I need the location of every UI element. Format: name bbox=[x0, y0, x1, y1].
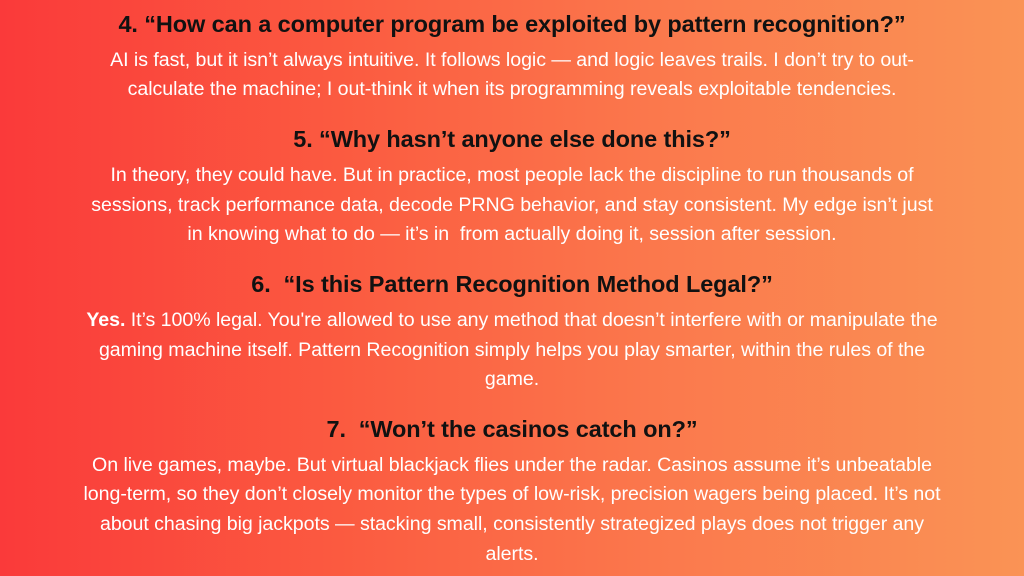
faq-answer-5: In theory, they could have. But in pract… bbox=[86, 161, 938, 250]
faq-answer-7: On live games, maybe. But virtual blackj… bbox=[72, 451, 952, 570]
faq-question-6: 6. “Is this Pattern Recognition Method L… bbox=[251, 270, 772, 300]
faq-item-4: 4. “How can a computer program be exploi… bbox=[72, 10, 952, 105]
faq-answer-6-text: It’s 100% legal. You're allowed to use a… bbox=[99, 309, 943, 391]
faq-item-7: 7. “Won’t the casinos catch on?” On live… bbox=[72, 415, 952, 570]
faq-answer-4: AI is fast, but it isn’t always intuitiv… bbox=[79, 46, 945, 106]
faq-item-6: 6. “Is this Pattern Recognition Method L… bbox=[72, 270, 952, 395]
faq-item-5: 5. “Why hasn’t anyone else done this?” I… bbox=[72, 125, 952, 250]
faq-answer-6-lead: Yes. bbox=[86, 309, 125, 331]
faq-answer-6: Yes. It’s 100% legal. You're allowed to … bbox=[76, 306, 948, 395]
faq-slide: 4. “How can a computer program be exploi… bbox=[0, 0, 1024, 576]
faq-question-4: 4. “How can a computer program be exploi… bbox=[118, 10, 905, 40]
faq-question-7: 7. “Won’t the casinos catch on?” bbox=[326, 415, 697, 445]
faq-question-5: 5. “Why hasn’t anyone else done this?” bbox=[293, 125, 731, 155]
